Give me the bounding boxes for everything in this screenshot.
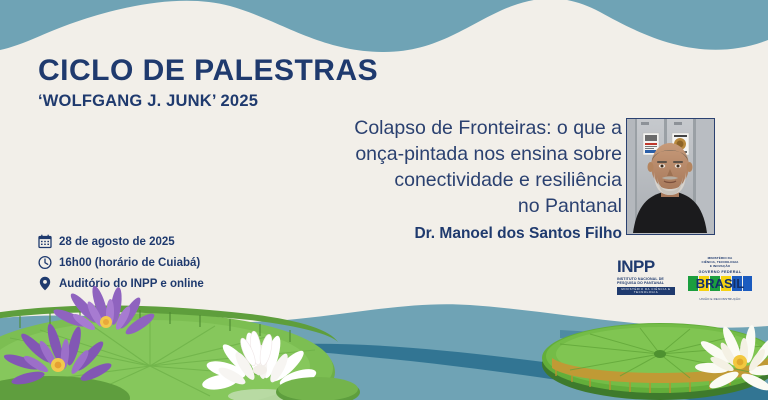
event-location-row: Auditório do INPP e online [38, 275, 204, 292]
speaker-photo-image [627, 119, 713, 233]
talk-title-line-3: conectividade e resiliência [300, 168, 622, 194]
event-details-list: 28 de agosto de 2025 16h00 (horário de C… [38, 233, 204, 296]
talk-block: Colapso de Fronteiras: o que a onça-pint… [300, 116, 622, 243]
inpp-logo-ministry-bar: MINISTÉRIO DA CIÊNCIA E TECNOLOGIA [617, 287, 675, 295]
svg-text:BRASIL: BRASIL [696, 276, 744, 291]
event-location-text: Auditório do INPP e online [59, 278, 204, 290]
calendar-icon [38, 234, 52, 249]
purple-lily-lower [2, 322, 113, 387]
inpp-logo-wordmark: INPP [617, 258, 675, 275]
gov-brasil-blocks: BRASIL [687, 276, 753, 291]
event-time-text: 16h00 (horário de Cuiabá) [59, 257, 200, 269]
inpp-logo: INPP INSTITUTO NACIONAL DE PESQUISA DO P… [617, 258, 675, 295]
heading-block: CICLO DE PALESTRAS ‘WOLFGANG J. JUNK’ 20… [38, 55, 378, 111]
gov-ministry-text: MINISTÉRIO DA CIÊNCIA, TECNOLOGIA E INOV… [687, 256, 753, 268]
event-poster: CICLO DE PALESTRAS ‘WOLFGANG J. JUNK’ 20… [0, 0, 768, 400]
page-title: CICLO DE PALESTRAS [38, 55, 378, 87]
clock-icon [38, 255, 52, 270]
top-wave-decoration [0, 0, 768, 62]
event-date-text: 28 de agosto de 2025 [59, 236, 175, 248]
gov-ministry-line3: E INOVAÇÃO [687, 264, 753, 268]
talk-title-line-2: onça-pintada nos ensina sobre [300, 142, 622, 168]
page-subtitle: ‘WOLFGANG J. JUNK’ 2025 [38, 92, 378, 111]
victoria-pad-right [542, 323, 768, 400]
gov-federal-text: GOVERNO FEDERAL [687, 270, 753, 274]
inpp-logo-subtitle: INSTITUTO NACIONAL DE PESQUISA DO PANTAN… [617, 277, 675, 286]
talk-title-line-1: Colapso de Fronteiras: o que a [300, 116, 622, 142]
white-lily-center [201, 330, 318, 400]
speaker-name: Dr. Manoel dos Santos Filho [300, 225, 622, 243]
inpp-logo-subtitle-line2: PESQUISA DO PANTANAL [617, 281, 675, 285]
bottom-water-scene [0, 286, 768, 400]
white-lily-right [695, 325, 768, 394]
gov-tagline: UNIÃO E RECONSTRUÇÃO [687, 297, 753, 301]
event-date-row: 28 de agosto de 2025 [38, 233, 204, 250]
talk-title-line-4: no Pantanal [300, 194, 622, 220]
speaker-photo [626, 118, 715, 235]
location-pin-icon [38, 276, 52, 291]
gov-brasil-wordmark: BRASIL [687, 276, 753, 296]
event-time-row: 16h00 (horário de Cuiabá) [38, 254, 204, 271]
gov-brasil-logo: MINISTÉRIO DA CIÊNCIA, TECNOLOGIA E INOV… [687, 256, 753, 301]
logo-bar: INPP INSTITUTO NACIONAL DE PESQUISA DO P… [617, 256, 757, 296]
